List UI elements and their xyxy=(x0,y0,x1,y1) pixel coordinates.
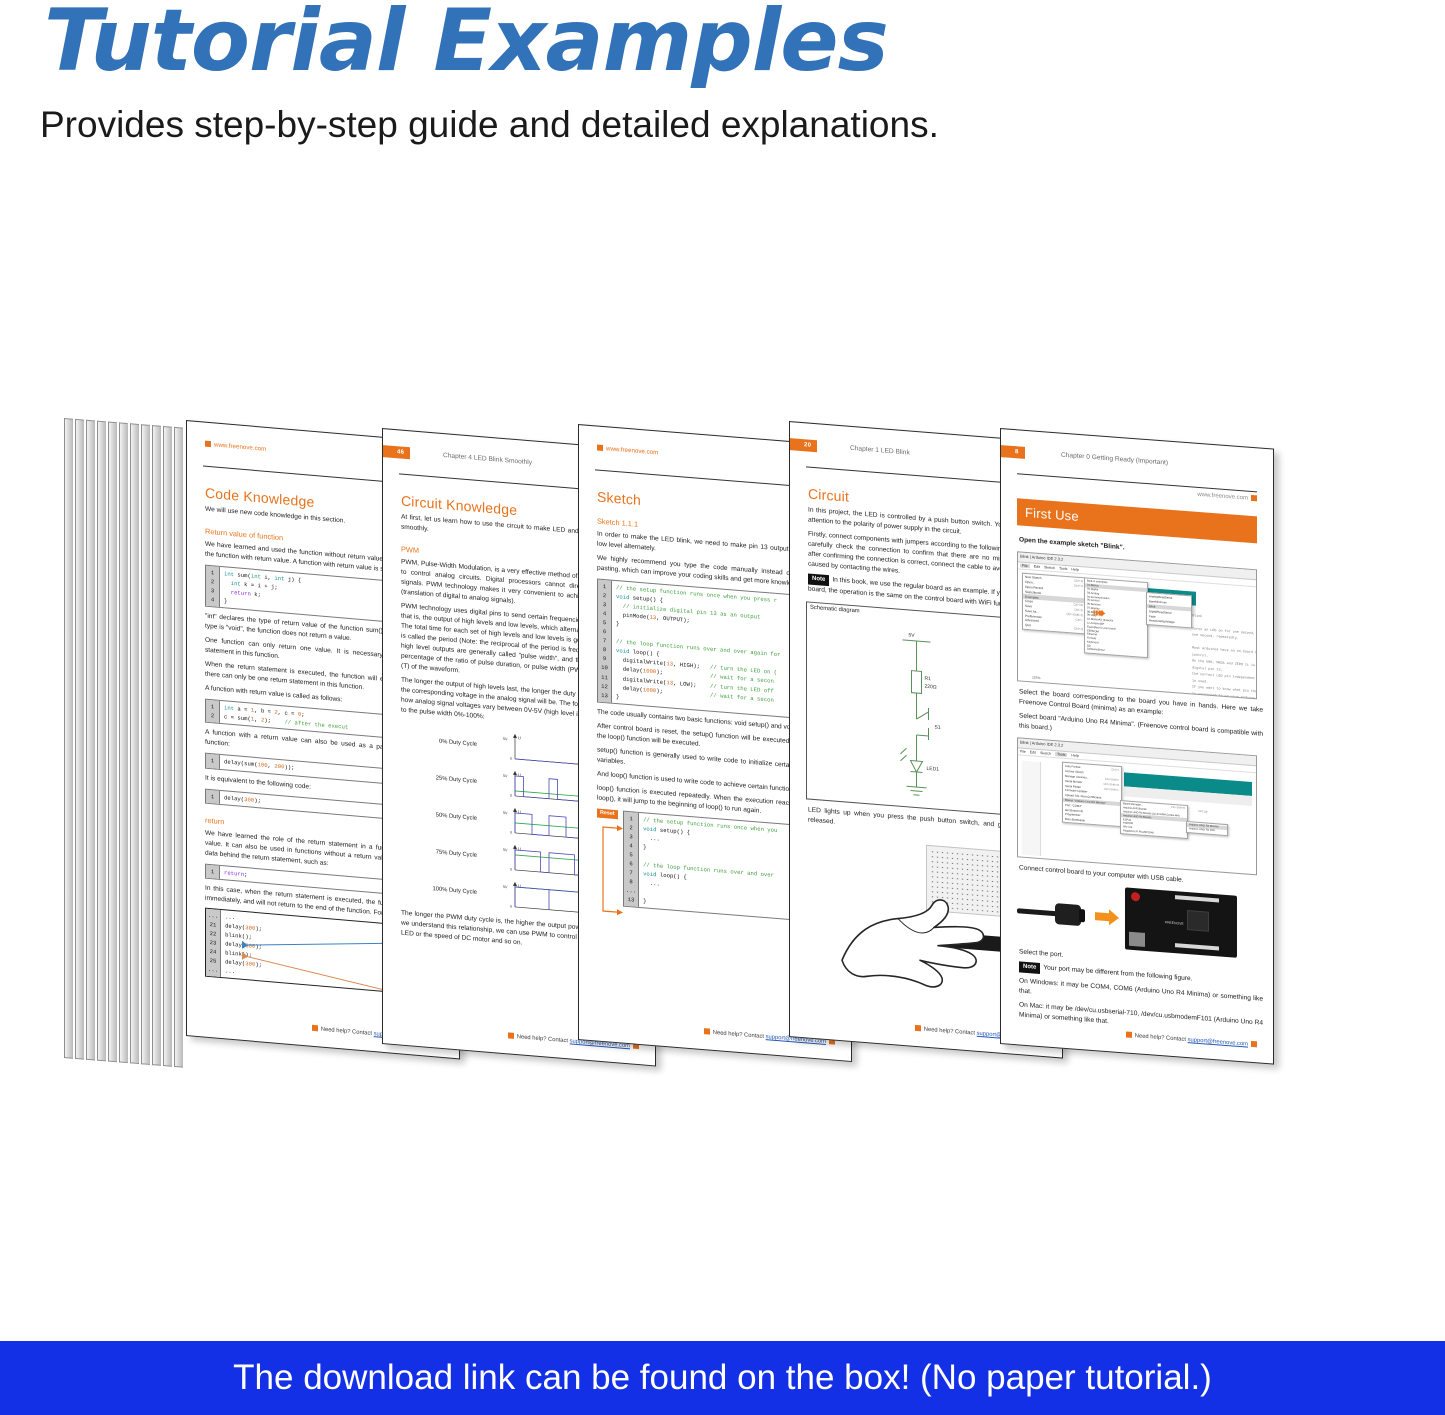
pwm-duty-label: 0% Duty Cycle xyxy=(399,736,483,749)
ide-menu-item-label: Save xyxy=(1025,604,1032,609)
ide-code-preview: Blink Turns an LED on for one second, th… xyxy=(1192,613,1257,699)
board-header-top xyxy=(1175,895,1219,902)
board-mcu-chip xyxy=(1187,910,1209,932)
page-stack-sheet xyxy=(163,426,172,1067)
brand-square-icon xyxy=(704,1028,710,1034)
page-stack-sheet xyxy=(174,427,183,1068)
freenove-control-board-photo: FREENOVE xyxy=(1125,887,1237,957)
page-stack-sheet xyxy=(119,422,128,1063)
svg-text:0: 0 xyxy=(510,831,512,835)
svg-text:0: 0 xyxy=(510,868,512,872)
brand-square-icon xyxy=(1251,495,1257,501)
pwm-duty-label: 50% Duty Cycle xyxy=(399,810,483,823)
chapter-label: Chapter 4 LED Blink Smoothly xyxy=(443,452,532,466)
menu-sketch[interactable]: Sketch xyxy=(1040,751,1051,756)
ide-tools-menu[interactable]: Auto FormatCtrl+TArchive SketchManage Li… xyxy=(1062,762,1122,828)
pwm-duty-label: 100% Duty Cycle xyxy=(399,884,483,897)
pwm-duty-label: 25% Duty Cycle xyxy=(399,773,483,786)
ide-basics-submenu[interactable]: AnalogReadSerialBareMinimumBlinkDigitalR… xyxy=(1146,592,1192,628)
code-gutter: ...2122232425... xyxy=(206,908,221,977)
brand-square-icon xyxy=(312,1025,318,1032)
tutorial-page-fan: www.freenove.com Code Knowledge We will … xyxy=(0,0,1445,1341)
schematic-caption: Schematic diagram xyxy=(810,605,860,615)
page-stack-sheet xyxy=(108,422,117,1063)
usb-connection-figure: FREENOVE xyxy=(1017,877,1257,961)
svg-text:0: 0 xyxy=(510,905,512,909)
note-badge: Note xyxy=(1019,962,1040,975)
arduino-ide-screenshot-file-examples[interactable]: Blink | Arduino IDE 2.3.2 File Edit Sket… xyxy=(1017,551,1257,699)
page-number-badge: 46 xyxy=(383,445,410,459)
section-title-band: First Use xyxy=(1017,498,1257,543)
ide-menu-item-label: Fade xyxy=(1149,614,1156,618)
svg-text:U: U xyxy=(518,735,521,740)
pointer-arrow-icon: ➠ xyxy=(1092,604,1106,622)
ide-menu-item-label: Arduino UNO R4 WiFi xyxy=(1189,827,1215,832)
page-stack-sheet xyxy=(86,420,95,1061)
code-gutter: 1 xyxy=(206,864,220,878)
support-email-link[interactable]: support@freenove.com xyxy=(1188,1037,1248,1048)
svg-text:5V: 5V xyxy=(503,848,508,852)
reset-badge: Reset xyxy=(597,808,618,819)
ide-menu-item-shortcut: Ctrl+Q xyxy=(1074,627,1083,632)
schematic-switch-label: S1 xyxy=(935,725,941,731)
ide-menu-item-shortcut: Ctrl+T xyxy=(1111,768,1119,773)
schematic-resistor-label: R1 xyxy=(925,676,932,683)
ide-menu-item-label: Burn Bootloader xyxy=(1065,817,1085,823)
schematic-supply-label: 5V xyxy=(909,633,916,640)
page-stack-sheet xyxy=(130,423,139,1064)
banner-text: The download link can be found on the bo… xyxy=(233,1358,1212,1398)
svg-text:220Ω: 220Ω xyxy=(925,684,937,691)
board-silkscreen-label: FREENOVE xyxy=(1165,921,1184,926)
ide-sidebar[interactable] xyxy=(1022,761,1041,856)
hand-icon xyxy=(820,831,1020,997)
brand-square-icon xyxy=(508,1032,514,1038)
ide-menu-item-shortcut: Ctrl+O xyxy=(1074,584,1083,589)
code-gutter: 1234 xyxy=(206,566,220,607)
brand-site-label: www.freenove.com xyxy=(597,445,658,457)
menu-help[interactable]: Help xyxy=(1071,753,1078,758)
menu-file[interactable]: File xyxy=(1020,564,1030,569)
brand-square-icon xyxy=(915,1025,921,1031)
menu-edit[interactable]: Edit xyxy=(1034,565,1040,569)
menu-help[interactable]: Help xyxy=(1071,567,1078,572)
tutorial-examples-poster: Tutorial Examples Provides step-by-step … xyxy=(0,0,1445,1415)
chapter-label: Chapter 0 Getting Ready (Important) xyxy=(1061,452,1168,467)
download-link-banner: The download link can be found on the bo… xyxy=(0,1341,1445,1415)
code-gutter: 12 xyxy=(206,700,220,723)
ide-board-submenu[interactable]: Board Manager...Ctrl+Shift+BArduino AVR … xyxy=(1120,800,1188,839)
ide-menu-item-label: Raspberry Pi Pico/RP2040 xyxy=(1123,829,1154,834)
ide-menu-item-label: ReadAnalogVoltage xyxy=(1149,619,1175,625)
ide-file-menu[interactable]: New SketchCtrl+NOpen...Ctrl+OOpen Recent… xyxy=(1022,573,1086,634)
svg-text:5V: 5V xyxy=(503,885,508,889)
board-reset-button[interactable] xyxy=(1131,892,1140,902)
page-stack-sheet xyxy=(97,421,106,1062)
menu-tools[interactable]: Tools xyxy=(1059,566,1067,571)
ide-menu-item-label: Blink xyxy=(1149,604,1155,608)
svg-text:0: 0 xyxy=(510,757,512,761)
page-stack-sheet xyxy=(64,418,73,1059)
board-header-bottom xyxy=(1175,943,1219,950)
schematic-svg: 5V R1 220Ω S1 LED1 xyxy=(807,615,1022,812)
page-number-badge: 8 xyxy=(1001,445,1025,459)
page-stack-edges xyxy=(64,418,192,1068)
page-stack-sheet xyxy=(141,424,150,1065)
tutorial-page-first-use[interactable]: 8 Chapter 0 Getting Ready (Important) ww… xyxy=(1000,428,1274,1065)
ide-menu-item-label: Quit xyxy=(1025,623,1031,627)
arrow-right-icon xyxy=(1095,906,1121,928)
code-gutter: 1 xyxy=(206,754,220,768)
pwm-duty-label: 75% Duty Cycle xyxy=(399,847,483,860)
page-stack-sheet xyxy=(75,419,84,1060)
ide-zoom-level: 115% xyxy=(1032,675,1040,680)
brand-site-label: www.freenove.com xyxy=(205,441,266,453)
menu-sketch[interactable]: Sketch xyxy=(1044,565,1055,570)
note-badge: Note xyxy=(808,574,829,587)
ide-menu-item-shortcut: Ctrl+, xyxy=(1076,617,1083,622)
svg-text:0: 0 xyxy=(510,794,512,798)
svg-text:5V: 5V xyxy=(503,774,508,778)
svg-text:5V: 5V xyxy=(503,737,508,741)
menu-edit[interactable]: Edit xyxy=(1030,750,1036,754)
brand-square-icon xyxy=(597,445,603,451)
schematic-led-label: LED1 xyxy=(927,766,940,773)
brand-square-icon xyxy=(1251,1041,1257,1047)
usb-c-cable-icon xyxy=(1017,895,1091,931)
schematic-panel: Schematic diagram xyxy=(807,603,1023,816)
brand-square-icon xyxy=(205,441,211,448)
chapter-label: Chapter 1 LED Blink xyxy=(850,445,910,457)
arduino-ide-screenshot-tools-board[interactable]: Blink | Arduino IDE 2.3.2 File Edit Sket… xyxy=(1017,737,1257,875)
page-number-badge: 20 xyxy=(790,438,817,452)
board-usb-port xyxy=(1129,932,1145,947)
svg-text:5V: 5V xyxy=(503,811,508,815)
ide-menu-item-label: SoftwareSerial xyxy=(1087,648,1104,652)
menu-file[interactable]: File xyxy=(1020,750,1026,754)
code-gutter: 1234567 8910111213 xyxy=(598,580,612,703)
brand-site-label-right: www.freenove.com xyxy=(1197,491,1257,502)
code-gutter: 1 xyxy=(206,789,220,803)
menu-tools[interactable]: Tools xyxy=(1055,752,1067,757)
page-stack-sheet xyxy=(152,425,161,1066)
execution-flow-arrow xyxy=(595,822,635,921)
brand-square-icon xyxy=(1126,1031,1132,1037)
